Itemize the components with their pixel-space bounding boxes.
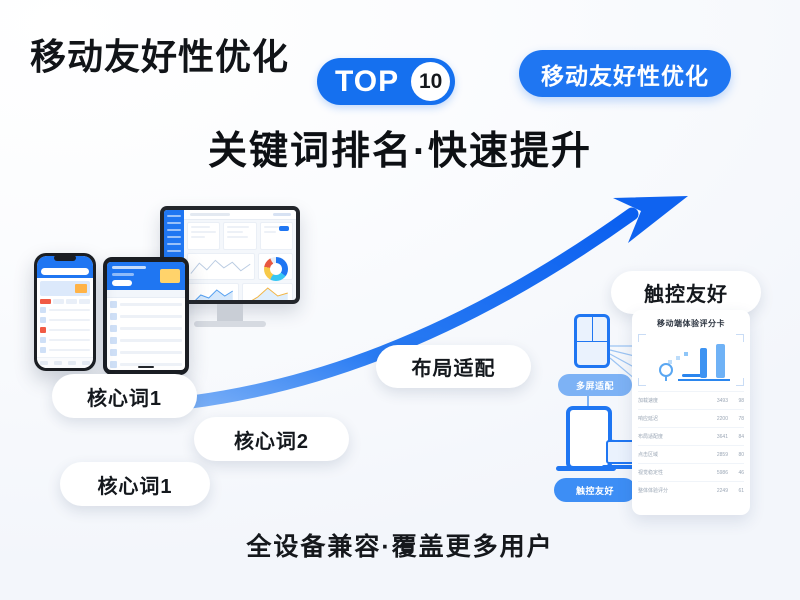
score-row-name: 响应延迟 <box>638 415 704 422</box>
score-row: 响应延迟 2200 78 <box>638 409 744 427</box>
score-row: 视觉稳定性 5986 46 <box>638 463 744 481</box>
score-row: 布局适配度 3641 84 <box>638 427 744 445</box>
score-row-value: 3493 <box>704 398 728 404</box>
phone-banner <box>40 281 90 296</box>
score-row: 加载速度 3493 98 <box>638 391 744 409</box>
page-subtitle: 关键词排名·快速提升 <box>0 120 800 176</box>
score-row-name: 视觉稳定性 <box>638 469 704 476</box>
score-row-value: 2200 <box>704 416 728 422</box>
score-row-value: 2859 <box>704 452 728 458</box>
footer-tagline: 全设备兼容·覆盖更多用户 <box>0 527 800 563</box>
phone-tabbar <box>37 357 93 368</box>
pill-keyword-2: 核心词2 <box>194 417 349 461</box>
top-badge-word: TOP <box>335 67 411 97</box>
score-row: 点击区域 2859 80 <box>638 445 744 463</box>
tablet-home-indicator <box>138 366 154 368</box>
experience-score-card: 移动端体验评分卡 加载速度 <box>632 310 750 515</box>
page-title: 移动友好性优化 <box>30 28 289 80</box>
score-row-value: 3641 <box>704 434 728 440</box>
pill-layout-fit: 布局适配 <box>376 345 531 388</box>
score-row-delta: 78 <box>728 416 744 422</box>
score-row-delta: 84 <box>728 434 744 440</box>
diagram-pill-multiscreen: 多屏适配 <box>558 374 632 396</box>
score-row-delta: 61 <box>728 488 744 494</box>
score-row-name: 加载速度 <box>638 397 704 404</box>
phone-screen <box>37 256 93 368</box>
score-row-value: 2249 <box>704 488 728 494</box>
pill-keyword-1: 核心词1 <box>52 374 197 418</box>
phone-notch <box>54 255 76 261</box>
score-row-delta: 98 <box>728 398 744 404</box>
diagram-device-stand <box>556 466 616 471</box>
tablet-screen <box>107 262 185 370</box>
score-row: 整体体验评分 2249 61 <box>638 481 744 499</box>
tablet-tabbar <box>107 290 185 298</box>
monitor-stand-neck <box>217 304 243 321</box>
score-row-name: 点击区域 <box>638 451 704 458</box>
monitor-stand-base <box>194 321 266 327</box>
mobile-experience-diagram: 多屏适配 触控友好 移动端体验评分卡 <box>548 300 778 525</box>
score-row-delta: 80 <box>728 452 744 458</box>
score-card-title: 移动端体验评分卡 <box>638 318 744 329</box>
tablet-illustration <box>103 257 189 375</box>
phone-search-bar <box>41 268 89 275</box>
score-row-name: 整体体验评分 <box>638 487 704 494</box>
score-card-chart <box>638 334 744 386</box>
score-row-name: 布局适配度 <box>638 433 704 440</box>
score-row-value: 5986 <box>704 470 728 476</box>
score-row-delta: 46 <box>728 470 744 476</box>
phone-filter-chips <box>40 299 90 304</box>
diagram-small-phone <box>574 314 610 368</box>
smartphone-illustration <box>34 253 96 371</box>
pill-keyword-3: 核心词1 <box>60 462 210 506</box>
diagram-pill-touch: 触控友好 <box>554 478 636 502</box>
tablet-list <box>107 298 185 370</box>
top-rank-badge: TOP 10 <box>317 58 455 105</box>
header-tag-pill: 移动友好性优化 <box>519 50 731 97</box>
poster-canvas: 移动友好性优化 TOP 10 移动友好性优化 关键词排名·快速提升 <box>0 0 800 600</box>
top-badge-number: 10 <box>411 62 450 101</box>
dashboard-content <box>184 219 296 300</box>
tablet-app-header <box>107 262 185 290</box>
